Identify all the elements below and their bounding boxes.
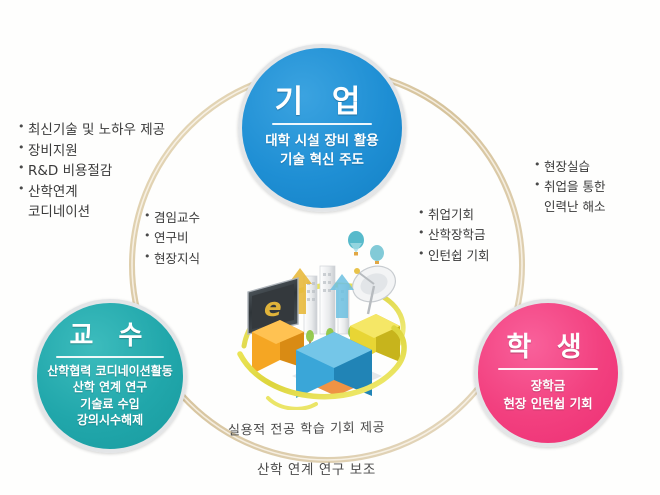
bullet-item: 현장지식 — [144, 249, 200, 269]
bullet-item: 산학연계 — [18, 182, 165, 203]
node-student-line-2: 현장 인턴쉽 기회 — [503, 395, 592, 413]
bullet-item: 산학장학금 — [418, 225, 489, 245]
node-student[interactable]: 학 생 장학금 현장 인턴쉽 기회 — [474, 299, 622, 447]
caption-bottom: 산학 연계 연구 보조 — [257, 458, 376, 478]
bullet-item: 취업기회 — [418, 205, 489, 225]
node-professor-line-1: 산학협력 코디네이션활동 — [47, 363, 173, 380]
bullet-item: 취업을 통한 — [534, 177, 605, 197]
node-professor-divider — [56, 356, 164, 358]
bullet-group-mid-left: 겸임교수 연구비 현장지식 — [144, 208, 200, 269]
bullet-item: 장비지원 — [18, 141, 165, 162]
node-professor-lines: 산학협력 코디네이션활동 산학 연계 연구 기술료 수입 강의시수해제 — [41, 363, 179, 429]
node-student-lines: 장학금 현장 인턴쉽 기회 — [497, 377, 598, 413]
node-student-title: 학 생 — [506, 334, 589, 365]
technology-cubes-illustration: e — [232, 228, 412, 410]
node-professor-line-2: 산학 연계 연구 — [47, 379, 173, 396]
node-company-title: 기 업 — [275, 86, 370, 122]
node-company[interactable]: 기 업 대학 시설 장비 활용 기술 혁신 주도 — [238, 44, 406, 212]
bullet-item: R&D 비용절감 — [18, 161, 165, 182]
svg-text:e: e — [264, 293, 282, 323]
bullet-item: 현장실습 — [534, 157, 605, 177]
node-company-lines: 대학 시설 장비 활용 기술 혁신 주도 — [259, 132, 384, 170]
node-company-divider — [272, 123, 371, 125]
node-company-line-2: 기술 혁신 주도 — [265, 151, 378, 170]
node-professor-line-3: 기술료 수입 — [47, 396, 173, 413]
bullet-item: 연구비 — [144, 228, 200, 248]
bullet-item: 최신기술 및 노하우 제공 — [18, 120, 165, 141]
node-professor[interactable]: 교 수 산학협력 코디네이션활동 산학 연계 연구 기술료 수입 강의시수해제 — [33, 299, 187, 453]
node-professor-line-4: 강의시수해제 — [47, 412, 173, 429]
diagram-canvas: e — [0, 0, 660, 495]
caption-arc: 실용적 전공 학습 기회 제공 — [228, 416, 385, 438]
bullet-item: 인턴쉽 기회 — [418, 246, 489, 266]
node-student-divider — [498, 368, 599, 370]
node-professor-title: 교 수 — [70, 323, 151, 353]
bullet-item-continuation: 인력난 해소 — [534, 197, 605, 217]
bullet-item: 겸임교수 — [144, 208, 200, 228]
node-company-line-1: 대학 시설 장비 활용 — [265, 132, 378, 151]
bullet-group-mid-right: 취업기회 산학장학금 인턴쉽 기회 — [418, 205, 489, 266]
bullet-group-right: 현장실습 취업을 통한 인력난 해소 — [534, 157, 605, 216]
node-student-line-1: 장학금 — [503, 377, 592, 395]
